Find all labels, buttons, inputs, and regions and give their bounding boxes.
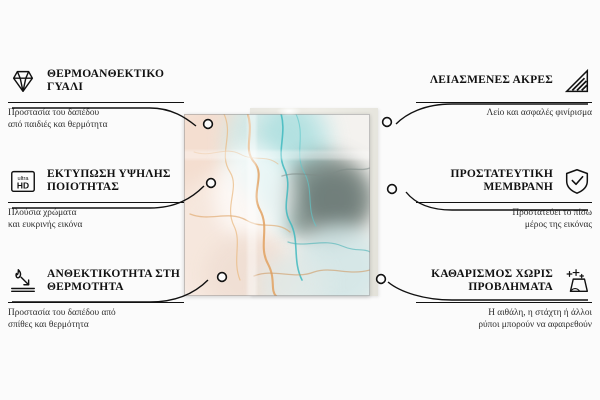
- diamond-icon: [8, 66, 38, 96]
- product-image: [180, 110, 395, 300]
- svg-text:HD: HD: [17, 181, 29, 191]
- feature-divider: [8, 302, 184, 303]
- marble-artwork: [184, 114, 370, 296]
- feature-description: Προστασία του δαπέδου από παιδιές και θε…: [8, 108, 184, 131]
- feature-header: ultra HD ΕΚΤΥΠΩΣΗ ΥΨΗΛΗΣ ΠΟΙΟΤΗΤΑΣ: [8, 164, 184, 198]
- feature-description: Η αιθάλη, η στάχτη ή άλλοι ρύποι μπορούν…: [416, 308, 592, 331]
- feature-description: Πλούσια χρώματα και ευκρινής εικόνα: [8, 208, 184, 231]
- feature-heat-resistance[interactable]: ΑΝΘΕΚΤΙΚΟΤΗΤΑ ΣΤΗ ΘΕΡΜΟΤΗΤΑ Προστασία το…: [8, 264, 184, 331]
- feature-polished-edges[interactable]: ΛΕΙΑΣΜΕΝΕΣ ΑΚΡΕΣ Λείο και ασφαλές φινίρι…: [416, 64, 592, 120]
- feature-high-quality-print[interactable]: ultra HD ΕΚΤΥΠΩΣΗ ΥΨΗΛΗΣ ΠΟΙΟΤΗΤΑΣ Πλούσ…: [8, 164, 184, 231]
- glass-panel: [184, 114, 370, 296]
- feature-easy-cleaning[interactable]: ΚΑΘΑΡΙΣΜΟΣ ΧΩΡΙΣ ΠΡΟΒΛΗΜΑΤΑ Η αιθάλη, η …: [416, 264, 592, 331]
- feature-header: ΠΡΟΣΤΑΤΕΥΤΙΚΗ ΜΕΜΒΡΑΝΗ: [416, 164, 592, 198]
- feature-header: ΚΑΘΑΡΙΣΜΟΣ ΧΩΡΙΣ ΠΡΟΒΛΗΜΑΤΑ: [416, 264, 592, 298]
- feature-title: ΑΝΘΕΚΤΙΚΟΤΗΤΑ ΣΤΗ ΘΕΡΜΟΤΗΤΑ: [47, 268, 184, 295]
- feature-header: ΘΕΡΜΟΑΝΘΕΚΤΙΚΟ ΓΥΑΛΙ: [8, 64, 184, 98]
- feature-heat-resistant-glass[interactable]: ΘΕΡΜΟΑΝΘΕΚΤΙΚΟ ΓΥΑΛΙ Προστασία του δαπέδ…: [8, 64, 184, 131]
- ultra-hd-icon: ultra HD: [8, 166, 38, 196]
- feature-description: Προστασία του δαπέδου από σπίθες και θερ…: [8, 308, 184, 331]
- polished-edges-icon: [562, 66, 592, 96]
- infographic-stage: ΘΕΡΜΟΑΝΘΕΚΤΙΚΟ ΓΥΑΛΙ Προστασία του δαπέδ…: [0, 0, 600, 400]
- feature-divider: [416, 302, 592, 303]
- feature-divider: [416, 202, 592, 203]
- feature-header: ΛΕΙΑΣΜΕΝΕΣ ΑΚΡΕΣ: [416, 64, 592, 98]
- feature-title: ΚΑΘΑΡΙΣΜΟΣ ΧΩΡΙΣ ΠΡΟΒΛΗΜΑΤΑ: [416, 268, 553, 295]
- shield-check-icon: [562, 166, 592, 196]
- feature-description: Λείο και ασφαλές φινίρισμα: [416, 108, 592, 120]
- feature-title: ΛΕΙΑΣΜΕΝΕΣ ΑΚΡΕΣ: [430, 74, 553, 88]
- feature-protective-film[interactable]: ΠΡΟΣΤΑΤΕΥΤΙΚΗ ΜΕΜΒΡΑΝΗ Προστατεύει το πί…: [416, 164, 592, 231]
- heat-resistance-icon: [8, 266, 38, 296]
- feature-title: ΕΚΤΥΠΩΣΗ ΥΨΗΛΗΣ ΠΟΙΟΤΗΤΑΣ: [47, 168, 184, 195]
- feature-title: ΠΡΟΣΤΑΤΕΥΤΙΚΗ ΜΕΜΒΡΑΝΗ: [416, 168, 553, 195]
- feature-description: Προστατεύει το πίσω μέρος της εικόνας: [416, 208, 592, 231]
- feature-header: ΑΝΘΕΚΤΙΚΟΤΗΤΑ ΣΤΗ ΘΕΡΜΟΤΗΤΑ: [8, 264, 184, 298]
- feature-divider: [8, 202, 184, 203]
- easy-clean-icon: [562, 266, 592, 296]
- feature-title: ΘΕΡΜΟΑΝΘΕΚΤΙΚΟ ΓΥΑΛΙ: [47, 68, 184, 95]
- feature-divider: [416, 102, 592, 103]
- feature-divider: [8, 102, 184, 103]
- glass-highlight: [276, 106, 302, 116]
